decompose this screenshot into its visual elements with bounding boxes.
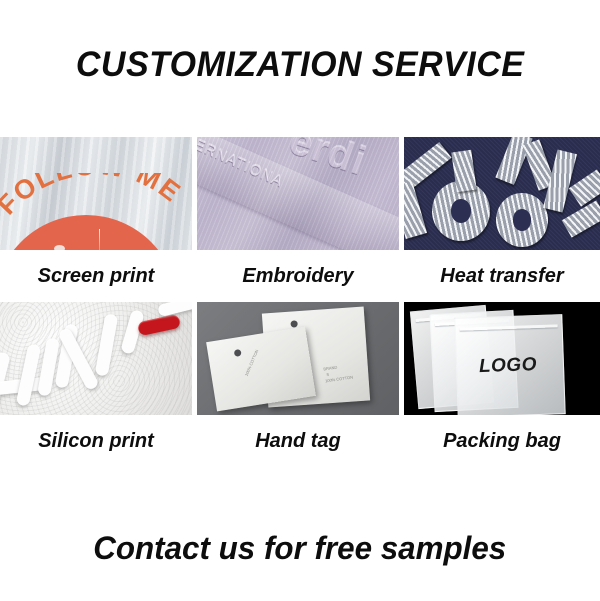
poster-header: CUSTOMIZATION SERVICE — [0, 0, 600, 130]
glyph-ring-2 — [496, 193, 548, 247]
silicon-print-image — [0, 302, 192, 415]
service-label-packing-bag: Packing bag — [404, 415, 600, 467]
tag-printed-text: BRAND S100% COTTON — [323, 363, 353, 385]
service-label-hand-tag: Hand tag — [197, 415, 399, 467]
screen-print-arc-text: N'T FOLLOW ME — [0, 173, 192, 250]
service-label-screen-print: Screen print — [0, 250, 192, 302]
tag-punch-hole — [290, 320, 297, 327]
packing-bag-front: LOGO — [454, 314, 565, 415]
service-card-packing-bag[interactable]: LOGO Packing bag — [404, 302, 600, 467]
zip-seal — [460, 324, 558, 330]
page-title: CUSTOMIZATION SERVICE — [76, 45, 524, 85]
service-label-heat-transfer: Heat transfer — [404, 250, 600, 302]
packing-bag-image: LOGO — [404, 302, 600, 415]
needle-highlight — [99, 229, 100, 250]
service-grid: N'T FOLLOW ME Screen print erdi ERNATION… — [0, 137, 600, 467]
service-card-embroidery[interactable]: erdi ERNATIONA Embroidery — [197, 137, 399, 302]
svg-text:N'T FOLLOW ME: N'T FOLLOW ME — [0, 173, 187, 250]
contact-cta-text: Contact us for free samples — [93, 530, 506, 567]
tag-printed-text: 100% COTTON — [244, 349, 261, 377]
service-label-silicon-print: Silicon print — [0, 415, 192, 467]
service-card-hand-tag[interactable]: BRAND S100% COTTON 100% COTTON Hand tag — [197, 302, 399, 467]
stitch-texture — [197, 137, 399, 250]
embroidery-image: erdi ERNATIONA — [197, 137, 399, 250]
heat-transfer-image — [404, 137, 600, 250]
hand-tag-image: BRAND S100% COTTON 100% COTTON — [197, 302, 399, 415]
service-card-silicon-print[interactable]: Silicon print — [0, 302, 192, 467]
service-label-embroidery: Embroidery — [197, 250, 399, 302]
customization-service-poster: CUSTOMIZATION SERVICE N'T FOLLOW ME — [0, 0, 600, 601]
tag-punch-hole — [234, 349, 242, 357]
poster-footer: Contact us for free samples — [0, 495, 600, 601]
bag-logo-text: LOGO — [479, 354, 538, 378]
screen-print-image: N'T FOLLOW ME — [0, 137, 192, 250]
service-card-screen-print[interactable]: N'T FOLLOW ME Screen print — [0, 137, 192, 302]
graphic-dot — [54, 245, 65, 250]
service-card-heat-transfer[interactable]: Heat transfer — [404, 137, 600, 302]
